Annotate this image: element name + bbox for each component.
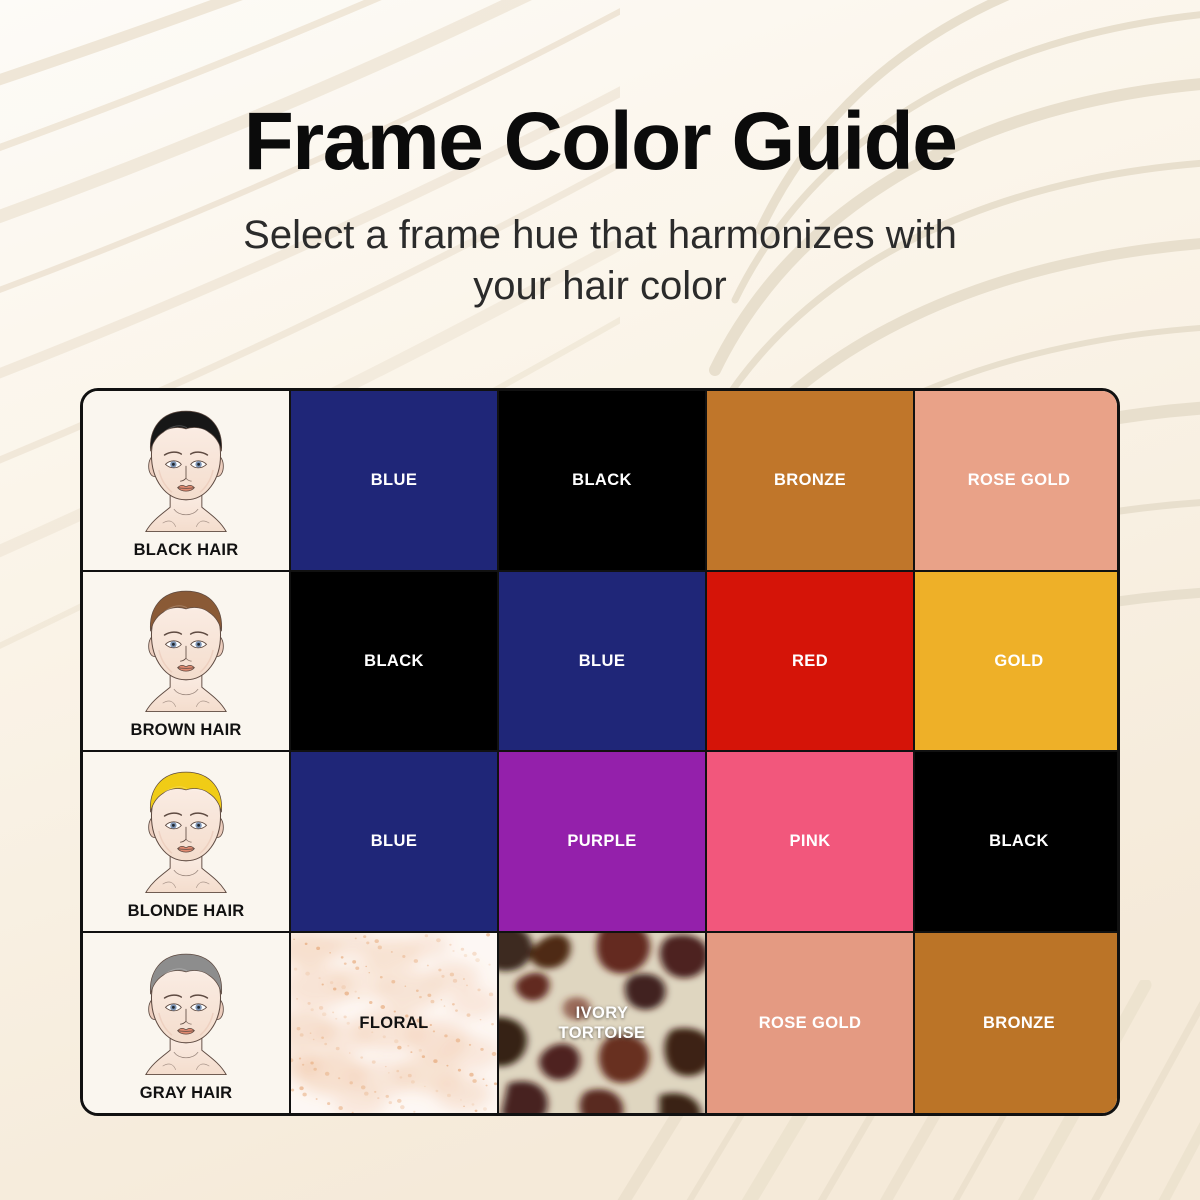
color-swatch-bronze[interactable]: BRONZE: [915, 933, 1120, 1114]
color-swatch-label: FLORAL: [359, 1013, 428, 1033]
color-swatch-label: IVORY TORTOISE: [559, 1003, 646, 1043]
hair-type-label: BLONDE HAIR: [128, 902, 245, 921]
color-swatch-gold[interactable]: GOLD: [915, 572, 1120, 753]
color-swatch-floral[interactable]: FLORAL: [291, 933, 499, 1114]
color-swatch-label: BLUE: [579, 651, 626, 671]
color-swatch-pink[interactable]: PINK: [707, 752, 915, 933]
color-swatch-bronze[interactable]: BRONZE: [707, 391, 915, 572]
color-swatch-label: GOLD: [994, 651, 1043, 671]
color-swatch-ivory-tortoise[interactable]: IVORY TORTOISE: [499, 933, 707, 1114]
color-swatch-label: BLUE: [371, 470, 418, 490]
face-portrait-icon: [111, 760, 261, 900]
color-swatch-label: BLUE: [371, 831, 418, 851]
hair-type-label: BROWN HAIR: [130, 721, 241, 740]
color-swatch-rose-gold[interactable]: ROSE GOLD: [707, 933, 915, 1114]
color-swatch-label: BLACK: [572, 470, 632, 490]
color-swatch-label: BLACK: [989, 831, 1049, 851]
face-portrait-icon: [111, 942, 261, 1082]
frame-color-guide-page: Frame Color Guide Select a frame hue tha…: [0, 0, 1200, 1200]
color-swatch-black[interactable]: BLACK: [291, 572, 499, 753]
color-swatch-blue[interactable]: BLUE: [291, 752, 499, 933]
hair-type-cell-gray-hair: GRAY HAIR: [83, 933, 291, 1114]
hair-type-cell-brown-hair: BROWN HAIR: [83, 572, 291, 753]
color-swatch-label: ROSE GOLD: [968, 470, 1071, 490]
hair-type-label: BLACK HAIR: [134, 541, 239, 560]
color-swatch-blue[interactable]: BLUE: [499, 572, 707, 753]
frame-color-guide-grid: BLACK HAIRBLUEBLACKBRONZEROSE GOLD BROWN…: [80, 388, 1120, 1116]
color-swatch-blue[interactable]: BLUE: [291, 391, 499, 572]
face-portrait-icon: [111, 399, 261, 539]
face-portrait-icon: [111, 579, 261, 719]
hair-type-cell-black-hair: BLACK HAIR: [83, 391, 291, 572]
color-swatch-label: ROSE GOLD: [759, 1013, 862, 1033]
color-swatch-label: RED: [792, 651, 828, 671]
color-swatch-label: BRONZE: [774, 470, 846, 490]
color-swatch-black[interactable]: BLACK: [915, 752, 1120, 933]
hair-type-label: GRAY HAIR: [140, 1084, 233, 1103]
color-swatch-rose-gold[interactable]: ROSE GOLD: [915, 391, 1120, 572]
color-swatch-purple[interactable]: PURPLE: [499, 752, 707, 933]
color-swatch-label: PINK: [789, 831, 830, 851]
color-swatch-label: BLACK: [364, 651, 424, 671]
hair-type-cell-blonde-hair: BLONDE HAIR: [83, 752, 291, 933]
color-swatch-red[interactable]: RED: [707, 572, 915, 753]
color-swatch-black[interactable]: BLACK: [499, 391, 707, 572]
color-swatch-label: PURPLE: [567, 831, 636, 851]
color-swatch-label: BRONZE: [983, 1013, 1055, 1033]
